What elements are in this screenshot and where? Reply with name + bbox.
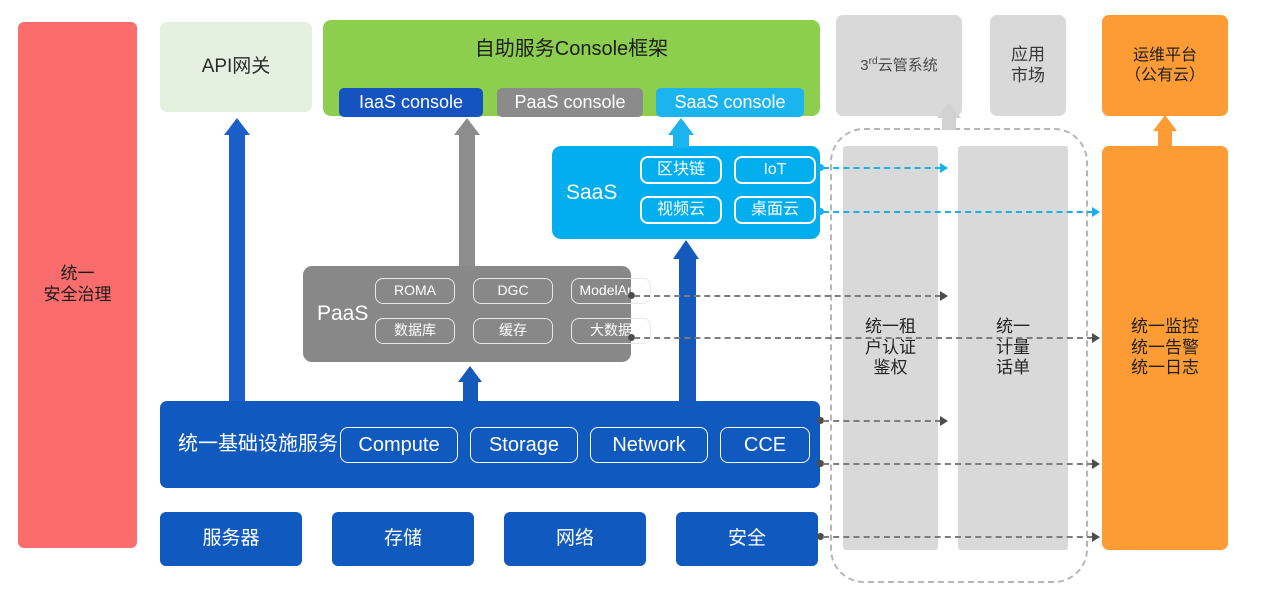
- hardware-storage-label: 存储: [384, 527, 422, 550]
- arrow-saas-to-console-head: [668, 118, 694, 135]
- auth-line-3: 鉴权: [865, 358, 916, 379]
- connector-paas-to-auth-line: [634, 295, 941, 297]
- auth-line-1: 统一租: [865, 317, 916, 338]
- hardware-server-label: 服务器: [202, 527, 259, 550]
- connector-infra-to-ops-arrow: [1092, 459, 1100, 469]
- connector-hardware-to-ops-line: [823, 536, 1093, 538]
- app-market-line-2: 市场: [1011, 66, 1045, 87]
- saas-chip-iot[interactable]: IoT: [734, 156, 816, 184]
- hardware-box-server[interactable]: 服务器: [160, 512, 302, 566]
- billing-line-2: 计量: [996, 338, 1030, 359]
- paas-chip-cache[interactable]: 缓存: [473, 318, 553, 344]
- ops-column-text: 统一监控 统一告警 统一日志: [1131, 317, 1199, 379]
- arrow-infra-to-api-gateway-stem: [229, 135, 245, 401]
- ops-platform-box[interactable]: 运维平台 （公有云）: [1102, 15, 1228, 116]
- saas-chip-blockchain[interactable]: 区块链: [640, 156, 722, 184]
- arrow-paas-to-console-head: [454, 118, 480, 135]
- third-cloud-label: 3rd云管系统: [860, 56, 937, 75]
- paas-label: PaaS: [317, 266, 368, 362]
- third-cloud-prefix: 3: [860, 57, 868, 74]
- security-line-2: 安全治理: [44, 285, 112, 306]
- auth-line-2: 户认证: [865, 338, 916, 359]
- paas-chip-modelarts[interactable]: ModelArts: [571, 278, 651, 304]
- saas-chip-blockchain-label: 区块链: [657, 160, 705, 180]
- arrow-infra-to-saas-head: [673, 240, 699, 259]
- infra-chip-network-label: Network: [612, 433, 685, 457]
- connector-saas-to-auth-arrow: [940, 163, 948, 173]
- arrow-saas-to-console-stem: [673, 135, 689, 148]
- hardware-security-label: 安全: [728, 527, 766, 550]
- paas-chip-dgc[interactable]: DGC: [473, 278, 553, 304]
- saas-block[interactable]: SaaS 区块链 IoT 视频云 桌面云: [552, 146, 820, 239]
- infra-chip-compute[interactable]: Compute: [340, 427, 458, 463]
- ops-platform-line-2: （公有云）: [1125, 66, 1205, 86]
- arrow-paas-to-console-stem: [459, 135, 475, 266]
- ops-col-line-2: 统一告警: [1131, 338, 1199, 359]
- paas-chip-bigdata-label: 大数据: [590, 322, 632, 339]
- api-gateway-label: API网关: [202, 55, 271, 78]
- hardware-box-storage[interactable]: 存储: [332, 512, 474, 566]
- unified-infrastructure-bar[interactable]: 统一基础设施服务 Compute Storage Network CCE: [160, 401, 820, 488]
- third-cloud-suffix: 云管系统: [878, 57, 938, 74]
- connector-saas-to-ops-line: [823, 211, 1093, 213]
- hardware-box-network[interactable]: 网络: [504, 512, 646, 566]
- saas-chip-desktop-cloud[interactable]: 桌面云: [734, 196, 816, 224]
- saas-chip-video-cloud-label: 视频云: [657, 200, 705, 220]
- third-party-cloud-management-box[interactable]: 3rd云管系统: [836, 15, 962, 116]
- infra-chip-cce-label: CCE: [744, 433, 786, 457]
- connector-infra-to-auth-arrow: [940, 416, 948, 426]
- connector-infra-to-ops-line: [823, 463, 1093, 465]
- architecture-diagram: 统一 安全治理 API网关 自助服务Console框架 IaaS console…: [0, 0, 1265, 605]
- infra-chip-compute-label: Compute: [358, 433, 439, 457]
- console-frame-title: 自助服务Console框架: [323, 37, 820, 61]
- saas-console-pill[interactable]: SaaS console: [656, 88, 804, 117]
- iaas-console-label: IaaS console: [359, 92, 463, 114]
- security-column-text: 统一 安全治理: [44, 264, 112, 305]
- billing-column-text: 统一 计量 话单: [996, 317, 1030, 379]
- infra-chip-storage[interactable]: Storage: [470, 427, 578, 463]
- unified-tenant-auth-column[interactable]: 统一租 户认证 鉴权: [843, 146, 938, 550]
- paas-chip-roma-label: ROMA: [394, 282, 436, 299]
- self-service-console-frame[interactable]: 自助服务Console框架 IaaS console PaaS console …: [323, 20, 820, 116]
- app-market-text: 应用 市场: [1011, 45, 1045, 86]
- hardware-box-security[interactable]: 安全: [676, 512, 818, 566]
- ops-platform-text: 运维平台 （公有云）: [1125, 46, 1205, 85]
- ops-col-line-3: 统一日志: [1131, 358, 1199, 379]
- paas-chip-cache-label: 缓存: [499, 322, 527, 339]
- billing-line-1: 统一: [996, 317, 1030, 338]
- auth-column-text: 统一租 户认证 鉴权: [865, 317, 916, 379]
- paas-console-pill[interactable]: PaaS console: [497, 88, 643, 117]
- unified-monitoring-column[interactable]: 统一监控 统一告警 统一日志: [1102, 146, 1228, 550]
- paas-chip-database-label: 数据库: [394, 322, 436, 339]
- saas-chip-iot-label: IoT: [763, 160, 786, 180]
- billing-line-3: 话单: [996, 358, 1030, 379]
- connector-paas-to-auth-arrow: [940, 291, 948, 301]
- unified-metering-billing-column[interactable]: 统一 计量 话单: [958, 146, 1068, 550]
- arrow-ops-column-to-ops-platform-head: [1153, 115, 1177, 131]
- arrow-infra-to-saas-stem: [679, 258, 696, 401]
- app-market-box[interactable]: 应用 市场: [990, 15, 1066, 116]
- connector-saas-to-ops-arrow: [1092, 207, 1100, 217]
- connector-hardware-to-ops-arrow: [1092, 532, 1100, 542]
- infra-chip-cce[interactable]: CCE: [720, 427, 810, 463]
- saas-chip-desktop-cloud-label: 桌面云: [751, 200, 799, 220]
- ops-col-line-1: 统一监控: [1131, 317, 1199, 338]
- app-market-line-1: 应用: [1011, 45, 1045, 66]
- arrow-infra-to-paas-head: [458, 366, 482, 382]
- ops-platform-line-1: 运维平台: [1125, 46, 1205, 66]
- saas-console-label: SaaS console: [674, 92, 785, 114]
- security-line-1: 统一: [44, 264, 112, 285]
- saas-chip-video-cloud[interactable]: 视频云: [640, 196, 722, 224]
- arrow-ops-column-to-ops-platform-stem: [1158, 130, 1172, 148]
- arrow-infra-to-paas-stem: [463, 381, 478, 401]
- paas-chip-dgc-label: DGC: [497, 282, 528, 299]
- paas-chip-database[interactable]: 数据库: [375, 318, 455, 344]
- connector-infra-to-auth-line: [823, 420, 941, 422]
- connector-saas-to-auth-line: [823, 167, 941, 169]
- infra-chip-storage-label: Storage: [489, 433, 559, 457]
- paas-chip-roma[interactable]: ROMA: [375, 278, 455, 304]
- iaas-console-pill[interactable]: IaaS console: [339, 88, 483, 117]
- hardware-network-label: 网络: [556, 527, 594, 550]
- paas-console-label: PaaS console: [514, 92, 625, 114]
- saas-label: SaaS: [566, 146, 617, 239]
- arrow-shared-to-third-cloud-stem: [942, 116, 956, 130]
- connector-paas-to-ops-arrow: [1092, 333, 1100, 343]
- third-cloud-superscript: rd: [869, 56, 878, 67]
- paas-block[interactable]: PaaS ROMA DGC ModelArts 数据库 缓存 大数据: [303, 266, 631, 362]
- paas-chip-bigdata[interactable]: 大数据: [571, 318, 651, 344]
- api-gateway-box[interactable]: API网关: [160, 22, 312, 112]
- infra-chip-network[interactable]: Network: [590, 427, 708, 463]
- unified-security-governance-column[interactable]: 统一 安全治理: [18, 22, 137, 548]
- arrow-shared-to-third-cloud-head: [937, 103, 961, 118]
- arrow-infra-to-api-gateway-head: [224, 118, 250, 135]
- connector-paas-to-ops-line: [634, 337, 1093, 339]
- infrastructure-label: 统一基础设施服务: [178, 401, 338, 488]
